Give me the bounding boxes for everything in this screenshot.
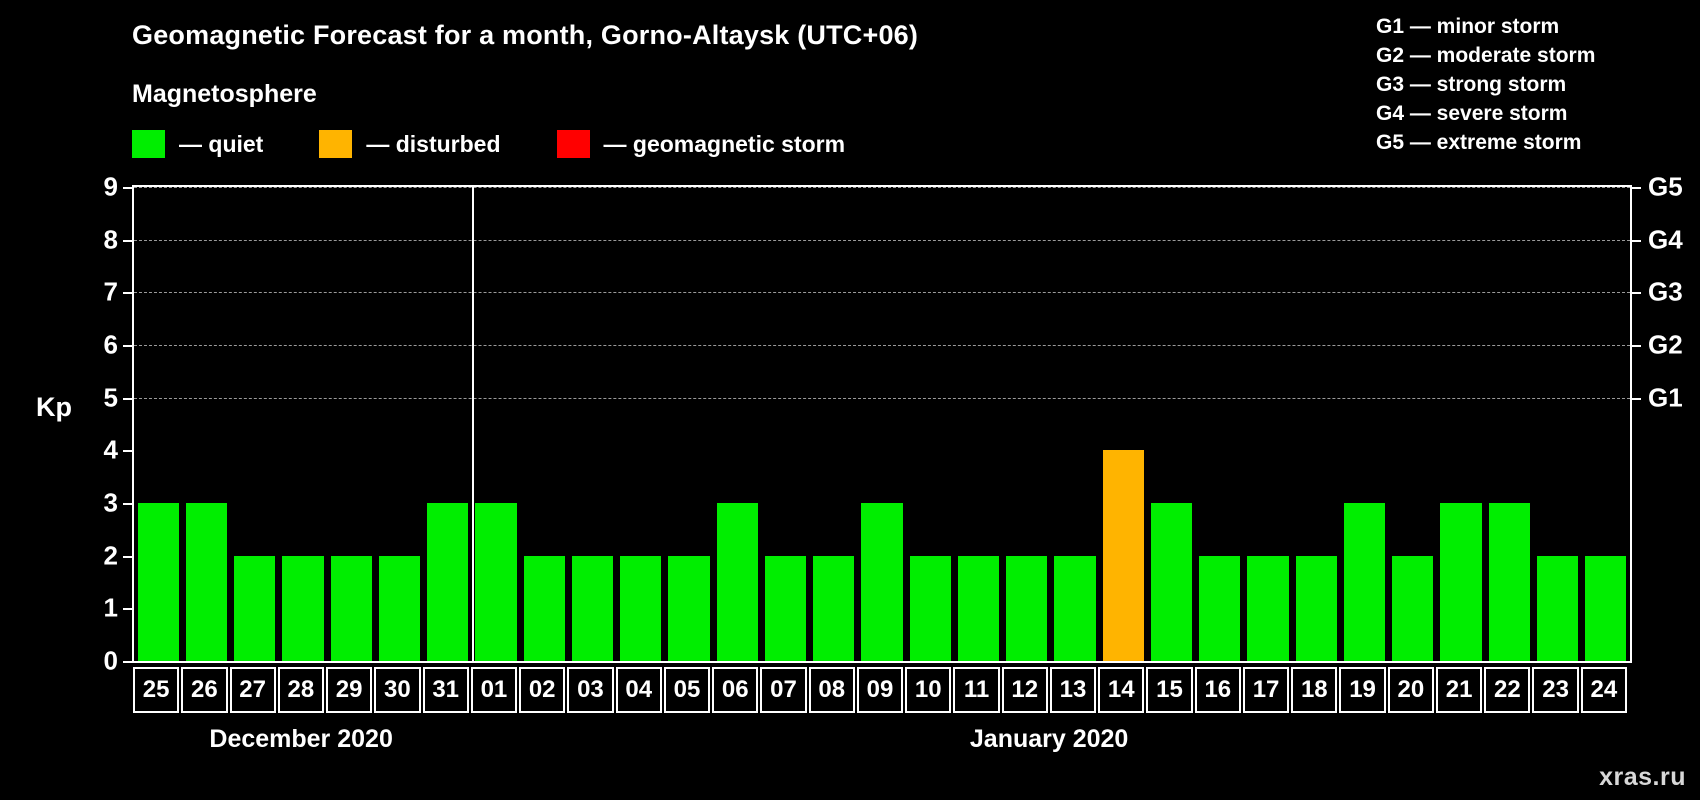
bar-24 <box>1585 556 1626 661</box>
g-axis-tick-label: G1 <box>1648 382 1683 413</box>
g-axis-tick <box>1630 240 1641 242</box>
day-label-11: 11 <box>953 667 999 713</box>
g-axis-tick <box>1630 187 1641 189</box>
day-label-07: 07 <box>760 667 806 713</box>
day-label-28: 28 <box>278 667 324 713</box>
day-label-24: 24 <box>1581 667 1627 713</box>
day-label-30: 30 <box>374 667 420 713</box>
g-axis-tick <box>1630 292 1641 294</box>
day-label-27: 27 <box>230 667 276 713</box>
day-label-row: 2526272829303101020304050607080910111213… <box>132 667 1632 713</box>
watermark: xras.ru <box>1599 763 1686 792</box>
y-axis-tick <box>123 398 134 400</box>
y-axis-tick-label: 1 <box>104 593 118 624</box>
g-axis-tick <box>1630 398 1641 400</box>
bar-21 <box>1440 503 1481 661</box>
day-label-23: 23 <box>1532 667 1578 713</box>
bar-15 <box>1151 503 1192 661</box>
bar-18 <box>1296 556 1337 661</box>
y-axis-tick-label: 9 <box>104 172 118 203</box>
y-axis-tick <box>123 450 134 452</box>
g-axis-tick-label: G5 <box>1648 172 1683 203</box>
day-label-06: 06 <box>712 667 758 713</box>
bar-series <box>134 187 1630 661</box>
bar-07 <box>765 556 806 661</box>
bar-14 <box>1103 450 1144 661</box>
day-label-15: 15 <box>1146 667 1192 713</box>
y-axis-tick <box>123 187 134 189</box>
day-label-25: 25 <box>133 667 179 713</box>
day-label-17: 17 <box>1243 667 1289 713</box>
day-label-31: 31 <box>423 667 469 713</box>
day-label-20: 20 <box>1388 667 1434 713</box>
day-label-10: 10 <box>905 667 951 713</box>
day-label-01: 01 <box>471 667 517 713</box>
y-axis-tick-label: 2 <box>104 540 118 571</box>
bar-16 <box>1199 556 1240 661</box>
month-caption: December 2020 <box>209 725 392 754</box>
month-divider-line <box>472 187 474 661</box>
day-label-02: 02 <box>519 667 565 713</box>
y-axis-tick-label: 3 <box>104 488 118 519</box>
bar-09 <box>861 503 902 661</box>
month-caption: January 2020 <box>970 725 1128 754</box>
bar-10 <box>910 556 951 661</box>
bar-25 <box>138 503 179 661</box>
y-axis-tick <box>123 503 134 505</box>
chart-area: Kp 0123456789 G1G2G3G4G5 252627282930310… <box>0 0 1700 800</box>
day-label-08: 08 <box>809 667 855 713</box>
day-label-13: 13 <box>1050 667 1096 713</box>
bar-01 <box>475 503 516 661</box>
day-label-14: 14 <box>1098 667 1144 713</box>
bar-28 <box>282 556 323 661</box>
bar-12 <box>1006 556 1047 661</box>
bar-04 <box>620 556 661 661</box>
g-axis-tick-label: G2 <box>1648 330 1683 361</box>
day-label-16: 16 <box>1195 667 1241 713</box>
g-axis-tick <box>1630 345 1641 347</box>
bar-17 <box>1247 556 1288 661</box>
bar-29 <box>331 556 372 661</box>
y-axis-tick-label: 6 <box>104 330 118 361</box>
bar-19 <box>1344 503 1385 661</box>
bar-02 <box>524 556 565 661</box>
g-axis-tick-label: G4 <box>1648 224 1683 255</box>
day-label-22: 22 <box>1484 667 1530 713</box>
bar-08 <box>813 556 854 661</box>
y-axis-tick <box>123 240 134 242</box>
plot-frame: 0123456789 G1G2G3G4G5 <box>132 185 1632 663</box>
y-axis-tick-label: 8 <box>104 224 118 255</box>
day-label-29: 29 <box>326 667 372 713</box>
y-axis-tick-label: 7 <box>104 277 118 308</box>
bar-06 <box>717 503 758 661</box>
bar-30 <box>379 556 420 661</box>
bar-05 <box>668 556 709 661</box>
y-axis-tick-label: 0 <box>104 646 118 677</box>
bar-31 <box>427 503 468 661</box>
g-axis-tick-label: G3 <box>1648 277 1683 308</box>
day-label-05: 05 <box>664 667 710 713</box>
day-label-18: 18 <box>1291 667 1337 713</box>
day-label-19: 19 <box>1339 667 1385 713</box>
y-axis-title: Kp <box>36 392 72 423</box>
y-axis-tick-label: 4 <box>104 435 118 466</box>
bar-03 <box>572 556 613 661</box>
y-axis-tick <box>123 661 134 663</box>
bar-20 <box>1392 556 1433 661</box>
bar-26 <box>186 503 227 661</box>
day-label-26: 26 <box>181 667 227 713</box>
bar-13 <box>1054 556 1095 661</box>
y-axis-tick-label: 5 <box>104 382 118 413</box>
y-axis-tick <box>123 345 134 347</box>
y-axis-tick <box>123 608 134 610</box>
bar-27 <box>234 556 275 661</box>
day-label-03: 03 <box>567 667 613 713</box>
day-label-04: 04 <box>616 667 662 713</box>
bar-11 <box>958 556 999 661</box>
bar-23 <box>1537 556 1578 661</box>
day-label-21: 21 <box>1436 667 1482 713</box>
bar-22 <box>1489 503 1530 661</box>
y-axis-tick <box>123 292 134 294</box>
day-label-12: 12 <box>1002 667 1048 713</box>
y-axis-tick <box>123 556 134 558</box>
day-label-09: 09 <box>857 667 903 713</box>
